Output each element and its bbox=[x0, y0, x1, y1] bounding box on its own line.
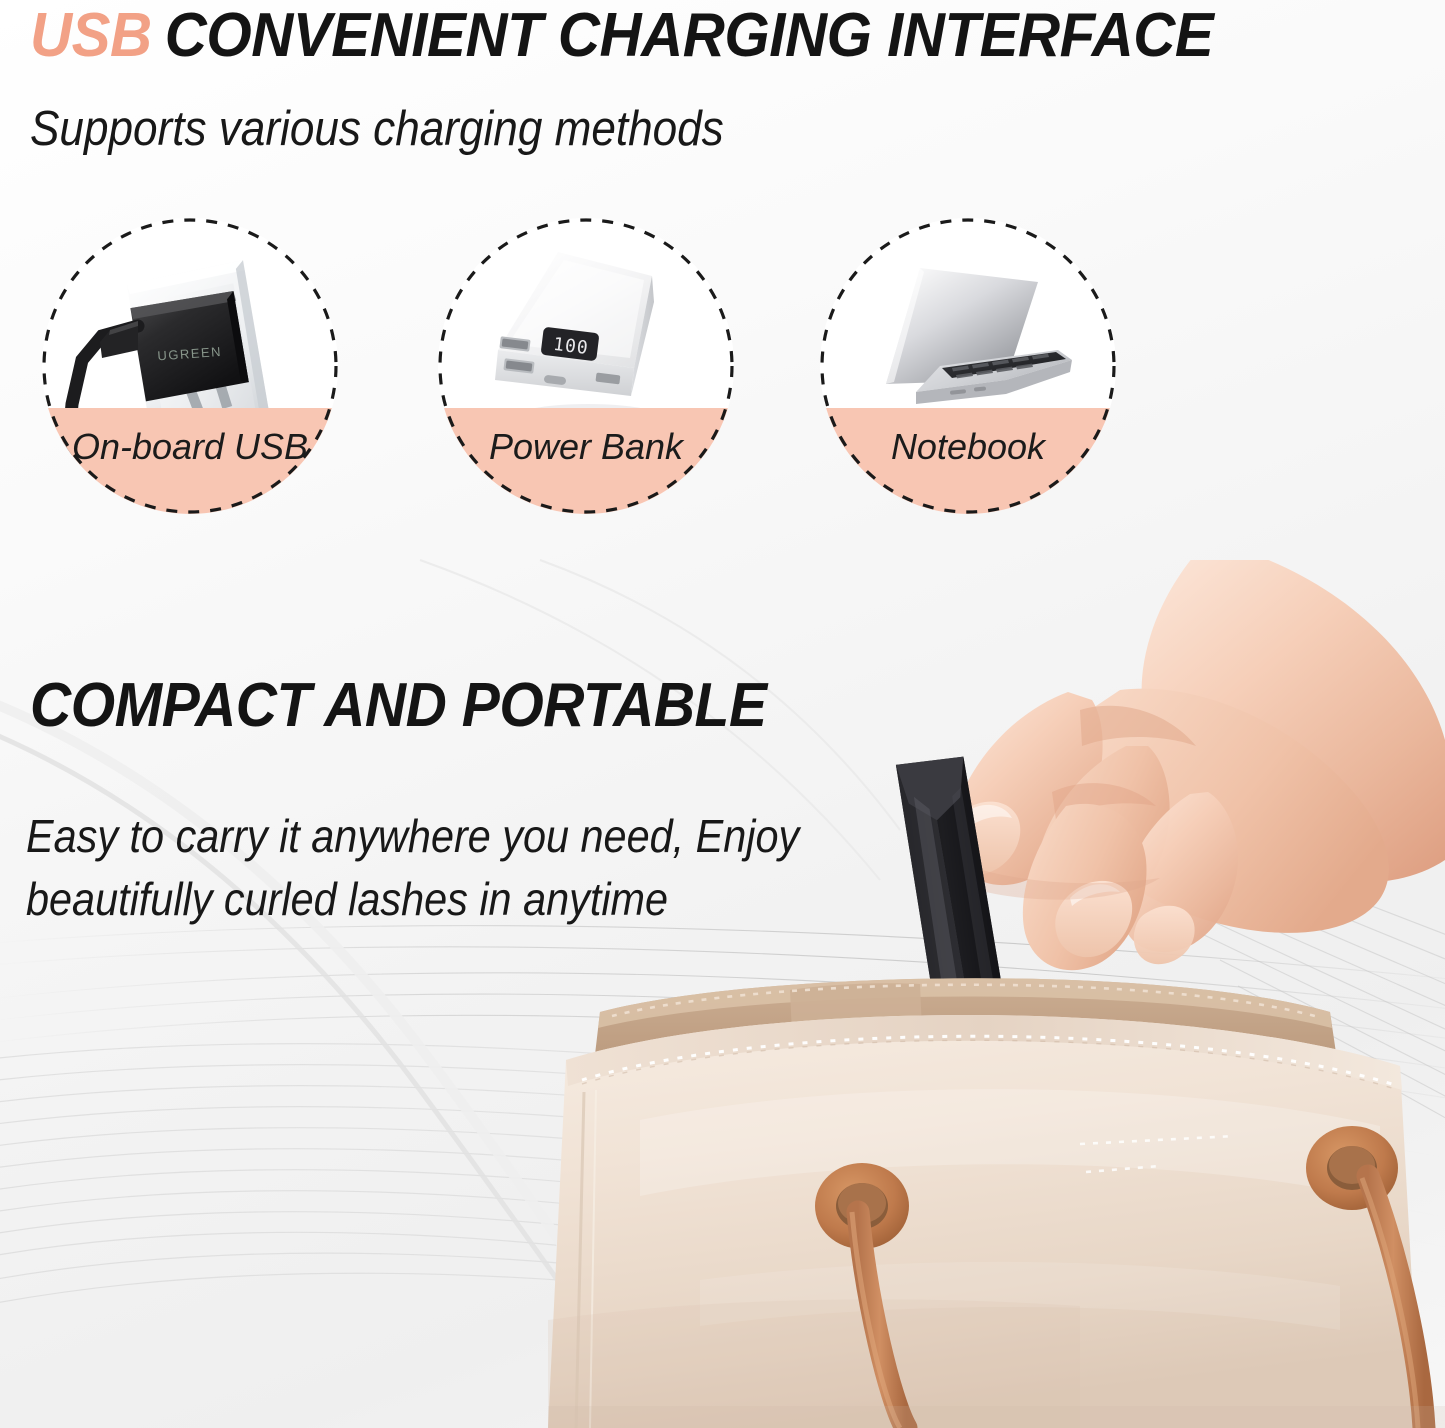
charging-method-card-on-board-usb: UGREEN On-board USB bbox=[42, 218, 338, 514]
charging-method-label-notebook: Notebook bbox=[820, 408, 1116, 514]
hero-headline-accent: USB bbox=[30, 1, 152, 70]
charging-method-card-power-bank: 100 Power Bank bbox=[438, 218, 734, 514]
svg-text:100: 100 bbox=[552, 334, 590, 359]
handbag bbox=[548, 978, 1424, 1428]
product-marketing-image: USBCONVENIENT CHARGING INTERFACE Support… bbox=[0, 0, 1445, 1428]
hero-headline-rest: CONVENIENT CHARGING INTERFACE bbox=[165, 1, 1213, 70]
lifestyle-photo-scene bbox=[0, 560, 1445, 1428]
charging-method-card-notebook: Notebook bbox=[820, 218, 1116, 514]
hero-headline: USBCONVENIENT CHARGING INTERFACE bbox=[30, 2, 1213, 70]
charging-method-label-on-board-usb: On-board USB bbox=[42, 408, 338, 514]
hero-subheadline: Supports various charging methods bbox=[30, 100, 724, 158]
charging-method-label-power-bank: Power Bank bbox=[438, 408, 734, 514]
